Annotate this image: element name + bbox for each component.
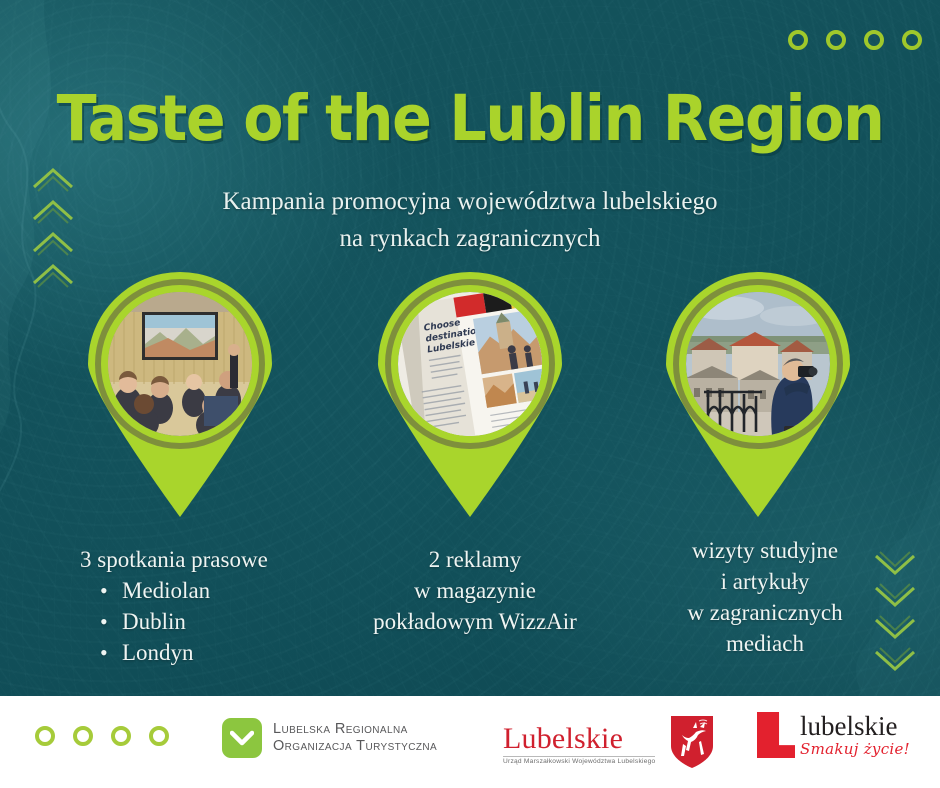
chevron-down-mark-icon [222, 718, 262, 758]
pin-press-meetings [82, 272, 278, 517]
decor-dots-top [788, 30, 922, 50]
list-item: Londyn [122, 637, 360, 668]
decor-dot [35, 726, 55, 746]
caption-line: w magazynie [340, 575, 610, 606]
poster-canvas: Taste of the Lublin Region Kampania prom… [0, 0, 940, 788]
caption-list: Mediolan Dublin Londyn [60, 575, 360, 668]
page-title: Taste of the Lublin Region [33, 82, 907, 155]
decor-dot [149, 726, 169, 746]
caption-line: mediach [650, 628, 880, 659]
decor-dots-footer [35, 726, 169, 746]
logo-um-wordmark: Lubelskie [503, 724, 655, 754]
decor-dot [902, 30, 922, 50]
logo-urzad-marszalkowski[interactable]: Lubelskie Urząd Marszałkowski Województw… [503, 714, 715, 775]
caption-press-meetings: 3 spotkania prasowe Mediolan Dublin Lond… [60, 544, 360, 668]
logo-lrot-text: Lubelska Regionalna Organizacja Turystyc… [273, 721, 437, 755]
caption-line: pokładowym WizzAir [340, 606, 610, 637]
logo-lrot-line-2: Organizacja Turystyczna [273, 738, 437, 755]
logo-sz-text: lubelskie Smakuj życie! [800, 713, 910, 758]
pin-study-visits [660, 272, 856, 517]
caption-study-visits: wizyty studyjne i artykuły w zagraniczny… [650, 535, 880, 659]
subtitle-line-2: na rynkach zagranicznych [0, 220, 940, 257]
caption-magazine-ads: 2 reklamy w magazynie pokładowym WizzAir [340, 544, 610, 637]
photo-magazine-spread: Choose destination Lubelskie [398, 292, 542, 436]
decor-dot [864, 30, 884, 50]
subtitle-line-1: Kampania promocyjna województwa lubelski… [0, 183, 940, 220]
letter-l-mark-icon [757, 712, 795, 758]
logo-lubelska-regionalna-organizacja-turystyczna[interactable]: Lubelska Regionalna Organizacja Turystyc… [222, 718, 437, 758]
pin-magazine-ads: Choose destination Lubelskie [372, 272, 568, 517]
logo-um-text: Lubelskie Urząd Marszałkowski Województw… [503, 724, 655, 765]
pin-group: Choose destination Lubelskie [0, 272, 940, 522]
photo-photographer-panorama [686, 292, 830, 436]
caption-line: i artykuły [650, 566, 880, 597]
decor-dot [111, 726, 131, 746]
list-item: Dublin [122, 606, 360, 637]
page-subtitle: Kampania promocyjna województwa lubelski… [0, 183, 940, 257]
photo-press-conference [108, 292, 252, 436]
list-item: Mediolan [122, 575, 360, 606]
logo-lubelskie-smakuj-zycie[interactable]: lubelskie Smakuj życie! [757, 712, 910, 758]
logo-um-subtitle: Urząd Marszałkowski Województwa Lubelski… [503, 758, 655, 765]
logo-um-rule [503, 756, 655, 757]
logo-sz-tagline: Smakuj życie! [800, 740, 910, 758]
logo-sz-wordmark: lubelskie [800, 713, 910, 739]
caption-line: w zagranicznych [650, 597, 880, 628]
caption-line: 2 reklamy [340, 544, 610, 575]
decor-dot [788, 30, 808, 50]
logo-lrot-line-1: Lubelska Regionalna [273, 721, 437, 738]
caption-lead: 3 spotkania prasowe [60, 544, 360, 575]
caption-line: wizyty studyjne [650, 535, 880, 566]
decor-dot [826, 30, 846, 50]
coat-of-arms-icon [669, 714, 715, 775]
decor-dot [73, 726, 93, 746]
